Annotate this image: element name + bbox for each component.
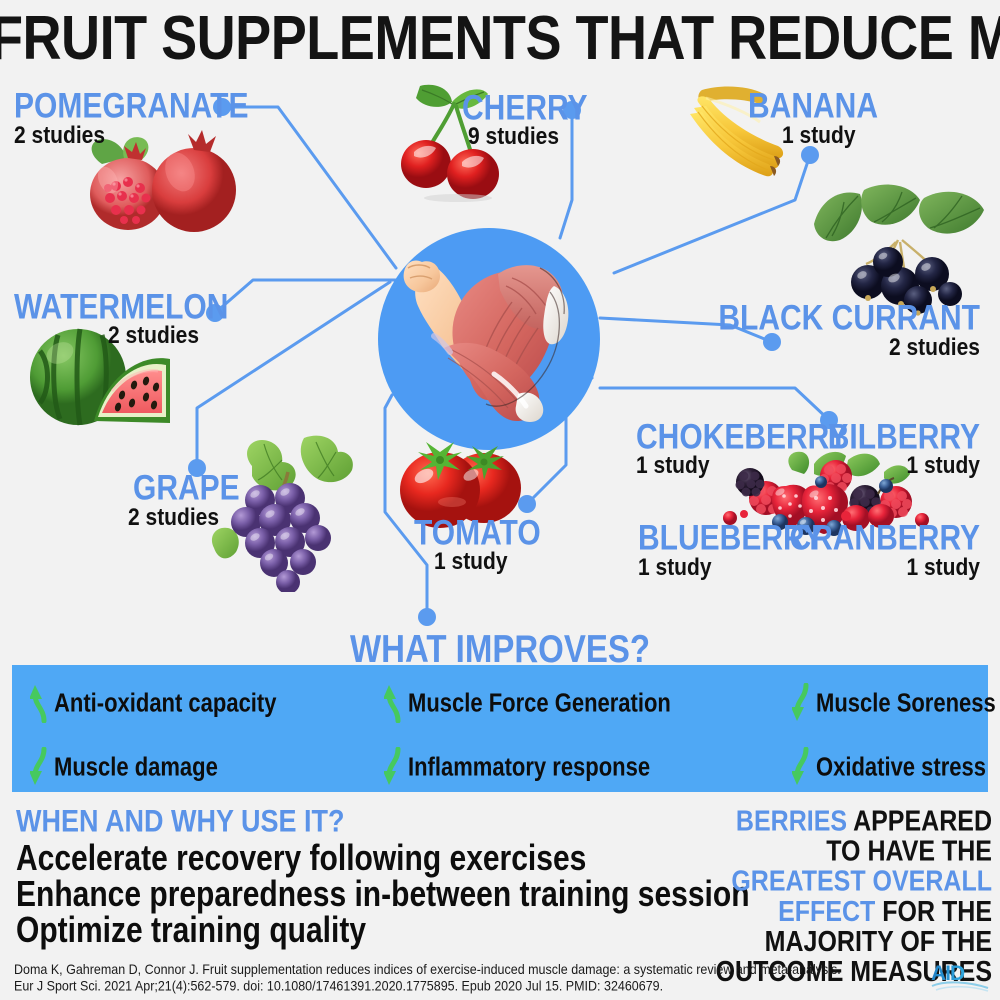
conclusion-seg-greatest: GREATEST [731, 865, 865, 897]
benefit-inflammatory-response: Inflammatory response [384, 747, 650, 787]
studies-bilberry: 1 study [906, 453, 980, 477]
label-pomegranate: POMEGRANATE [14, 90, 248, 125]
conclusion-seg-for: FOR [875, 895, 942, 927]
studies-pomegranate: 2 studies [14, 123, 105, 147]
citation: Doma K, Gahreman D, Connor J. Fruit supp… [14, 962, 914, 995]
label-blackcurrant: BLACK CURRANT [718, 302, 980, 337]
benefit-anti-oxidant-capacity: Anti-oxidant capacity [30, 683, 276, 723]
arrow-up-green-icon [30, 683, 50, 723]
citation-line-1: Doma K, Gahreman D, Connor J. Fruit supp… [14, 962, 914, 979]
benefit-label: Anti-oxidant capacity [54, 690, 276, 716]
benefits-panel: Anti-oxidant capacity Muscle Force Gener… [12, 665, 988, 792]
when-and-why-heading: WHEN AND WHY USE IT? [16, 806, 345, 838]
citation-line-2: Eur J Sport Sci. 2021 Apr;21(4):562-579.… [14, 979, 914, 996]
studies-tomato: 1 study [434, 549, 508, 573]
aid-logo[interactable]: AID [930, 960, 992, 994]
center-muscle-circle [378, 228, 600, 450]
arrow-down-green-icon [30, 747, 50, 787]
benefit-muscle-force-generation: Muscle Force Generation [384, 683, 671, 723]
when-and-why-line-2: Enhance preparedness in-between training… [16, 877, 750, 913]
label-bilberry: BILBERRY [828, 421, 980, 456]
benefit-muscle-damage: Muscle damage [30, 747, 218, 787]
infographic-canvas: FRUIT SUPPLEMENTS THAT REDUCE MUSCLE DAM… [0, 0, 1000, 1000]
benefit-label: Muscle damage [54, 754, 218, 780]
conclusion-seg-berries: BERRIES [736, 805, 847, 837]
studies-blueberry: 1 study [638, 555, 712, 579]
when-and-why-line-3: Optimize training quality [16, 913, 366, 949]
arrow-down-green-icon [792, 747, 812, 787]
flexed-arm-muscle-icon [378, 228, 600, 450]
label-chokeberry: CHOKEBERRY [636, 421, 848, 456]
benefit-label: Oxidative stress [816, 754, 986, 780]
conclusion-seg-2: HAVE THE [867, 835, 992, 867]
benefit-label: Muscle Soreness [816, 690, 996, 716]
conclusion-seg-space [866, 865, 873, 897]
benefit-muscle-soreness: Muscle Soreness [792, 683, 996, 723]
studies-grape: 2 studies [128, 505, 219, 529]
when-and-why-line-1: Accelerate recovery following exercises [16, 841, 586, 877]
studies-watermelon: 2 studies [108, 323, 199, 347]
studies-cherry: 9 studies [468, 124, 559, 148]
pomegranate-icon [84, 128, 244, 238]
label-grape: GRAPE [133, 472, 240, 507]
label-tomato: TOMATO [414, 517, 541, 552]
benefit-label: Inflammatory response [408, 754, 650, 780]
studies-cranberry: 1 study [906, 555, 980, 579]
studies-blackcurrant: 2 studies [889, 335, 980, 359]
studies-banana: 1 study [782, 123, 856, 147]
benefit-label: Muscle Force Generation [408, 690, 671, 716]
arrow-down-green-icon [792, 683, 812, 723]
grape-icon [208, 432, 360, 592]
arrow-down-green-icon [384, 747, 404, 787]
benefit-oxidative-stress: Oxidative stress [792, 747, 986, 787]
node-dot-what-improves [418, 608, 436, 626]
label-cherry: CHERRY [462, 92, 588, 127]
studies-chokeberry: 1 study [636, 453, 710, 477]
label-banana: BANANA [748, 90, 878, 125]
label-cranberry: CRANBERRY [789, 522, 980, 557]
label-watermelon: WATERMELON [14, 291, 228, 326]
arrow-up-green-icon [384, 683, 404, 723]
